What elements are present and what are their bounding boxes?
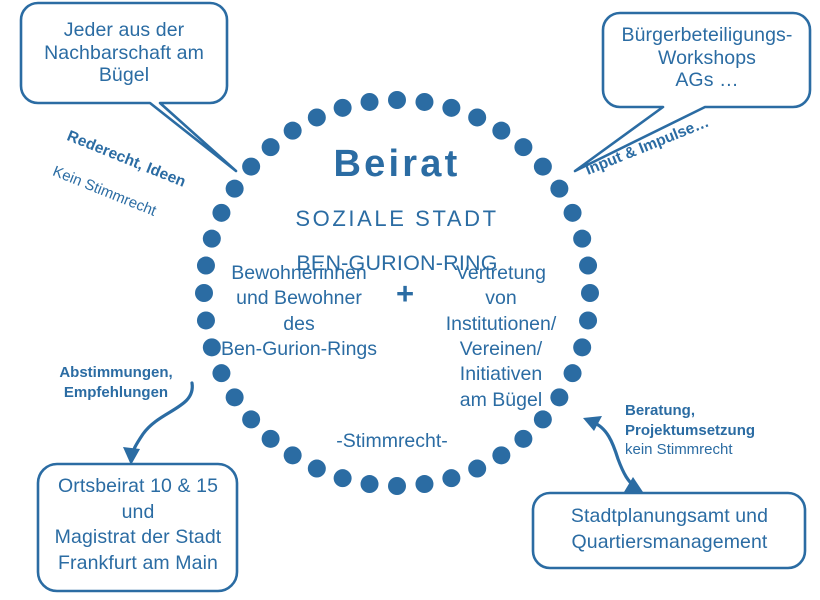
ring-dot <box>334 469 352 487</box>
ring-dot <box>284 446 302 464</box>
ring-dot <box>492 446 510 464</box>
ring-dot <box>514 430 532 448</box>
box-bottom-right-text: Stadtplanungsamt und Quartiersmanagement <box>543 504 796 555</box>
voting-note: -Stimmrecht- <box>312 430 472 453</box>
ring-dot <box>226 388 244 406</box>
connector-label-abstimmungen: Abstimmungen, Empfehlungen <box>48 363 184 402</box>
ring-dot <box>415 93 433 111</box>
ring-dot <box>442 99 460 117</box>
ring-dot <box>242 410 260 428</box>
ring-dot <box>388 477 406 495</box>
ring-dot <box>212 204 230 222</box>
center-subline-1: SOZIALE STADT <box>247 206 547 232</box>
ring-dot <box>573 230 591 248</box>
ring-dot <box>415 475 433 493</box>
ring-dot <box>468 108 486 126</box>
arrow-beratung-head-up <box>583 416 602 431</box>
ring-dot <box>212 364 230 382</box>
ring-dot <box>564 204 582 222</box>
box-bottom-left-text: Ortsbeirat 10 & 15 und Magistrat der Sta… <box>46 474 230 577</box>
member-group-left: Bewohnerinnen und Bewohner des Ben-Gurio… <box>210 261 388 362</box>
ring-dot <box>442 469 460 487</box>
ring-dot <box>534 410 552 428</box>
plus-sign: + <box>388 278 422 309</box>
ring-dot <box>468 460 486 478</box>
ring-dot <box>334 99 352 117</box>
connector-label-beratung-bold: Beratung, Projektumsetzung <box>625 401 785 440</box>
ring-dot <box>550 180 568 198</box>
ring-dot <box>388 91 406 109</box>
ring-dot <box>203 230 221 248</box>
center-headline: Beirat <box>247 145 547 184</box>
connector-label-beratung: Beratung, Projektumsetzung kein Stimmrec… <box>625 401 785 460</box>
diagram-canvas: Beirat SOZIALE STADT BEN-GURION-RING Bew… <box>0 0 820 600</box>
member-group-right: Vertretung von Institutionen/ Vereinen/ … <box>420 261 582 413</box>
ring-dot <box>308 460 326 478</box>
ring-dot <box>581 284 599 302</box>
ring-dot <box>262 430 280 448</box>
speech-bubble-top-left-text: Jeder aus der Nachbarschaft am Bügel <box>30 19 218 87</box>
ring-dot <box>226 180 244 198</box>
connector-label-beratung-regular: kein Stimmrecht <box>625 440 785 460</box>
ring-dot <box>361 475 379 493</box>
arrow-abstimmungen-head <box>123 447 140 465</box>
ring-dot <box>308 108 326 126</box>
speech-bubble-top-right-text: Bürgerbeteiligungs- Workshops AGs … <box>612 24 802 92</box>
ring-dot <box>361 93 379 111</box>
